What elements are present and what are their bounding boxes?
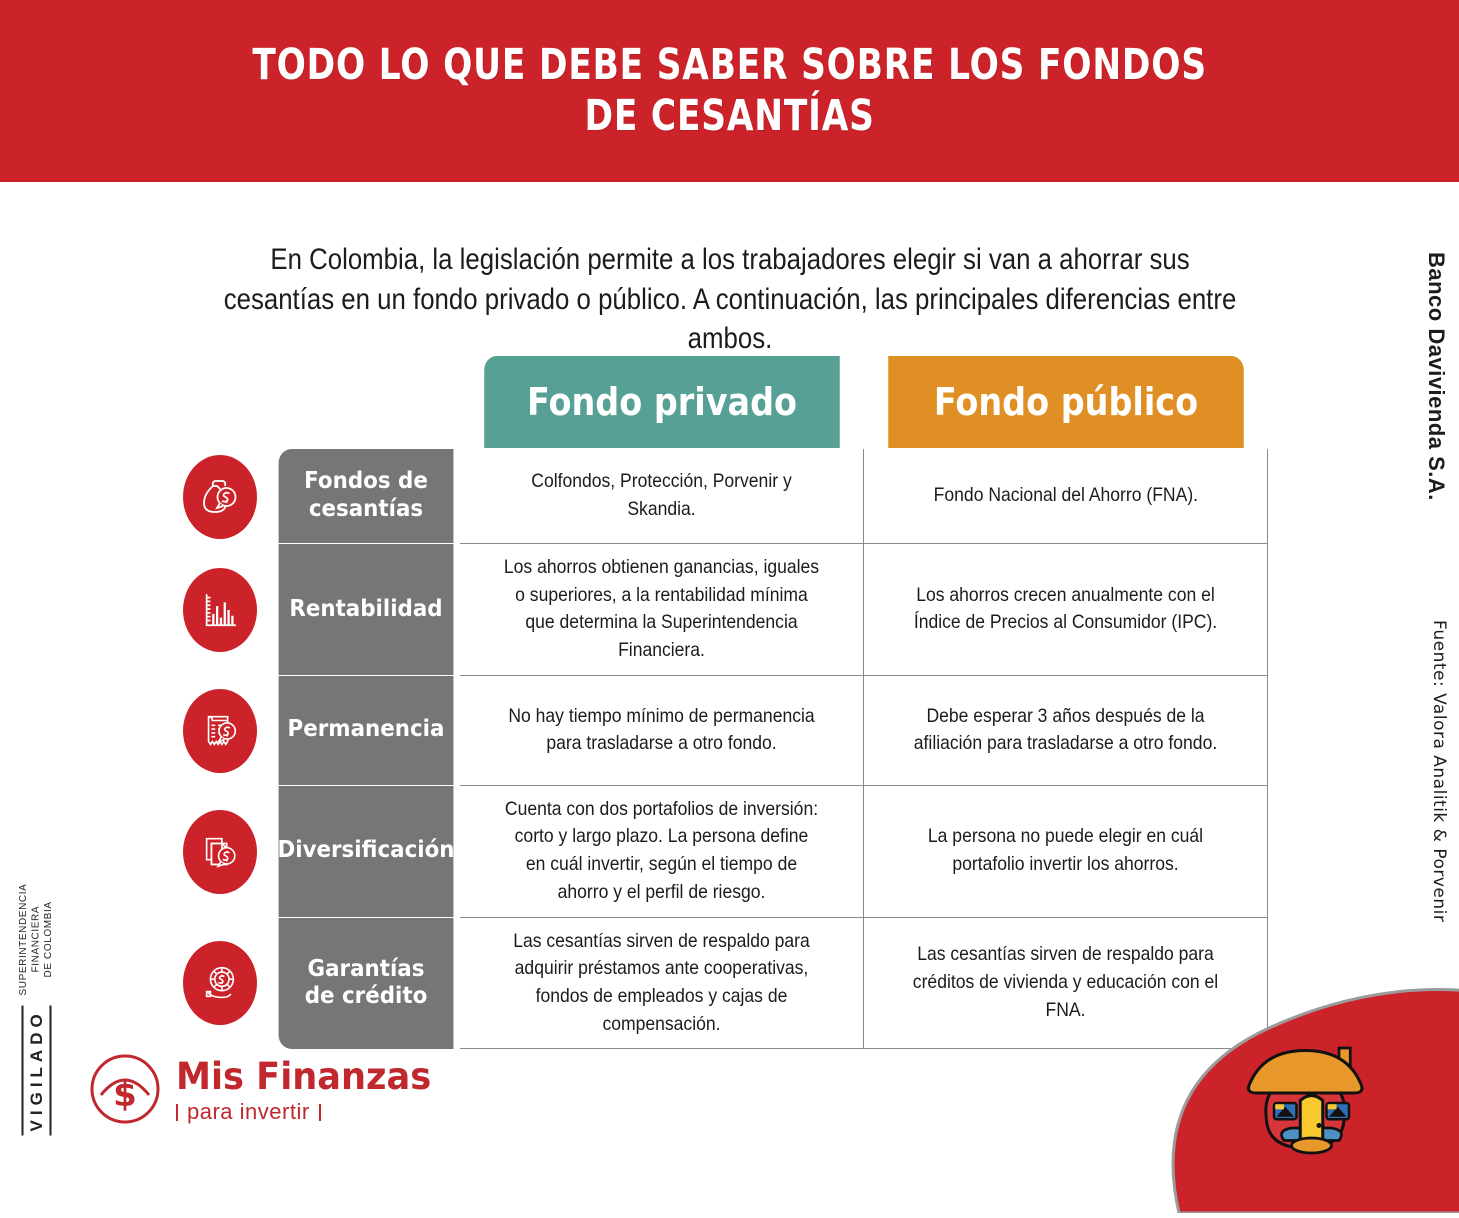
logo-coin-icon: $ [88,1052,162,1131]
header-banner: TODO LO QUE DEBE SABER SOBRE LOS FONDOS … [0,0,1459,182]
logo-divider-left [176,1104,178,1121]
table-header-row: Fondo privado Fondo público [460,356,1268,448]
table-row: Diversificación Cuenta con dos portafoli… [168,786,1268,918]
row-value-private: No hay tiempo mínimo de permanencia para… [460,676,864,786]
vigilado-entity: SUPERINTENDENCIA FINANCIERA DE COLOMBIA [18,884,56,995]
row-value-private: Colfondos, Protección, Porvenir y Skandi… [460,449,864,544]
intro-paragraph: En Colombia, la legislación permite a lo… [214,240,1246,359]
column-header-public: Fondo público [888,356,1244,448]
row-value-public: Fondo Nacional del Ahorro (FNA). [864,449,1268,544]
row-label: Garantías de crédito [279,918,454,1050]
logo-subtitle-wrap: para invertir [176,1099,445,1125]
table-row: Permanencia No hay tiempo mínimo de perm… [168,676,1268,786]
documents-dollar-icon [183,810,257,894]
bar-chart-icon [183,568,257,652]
row-icon-cell [168,544,272,676]
table-row: Rentabilidad Los ahorros obtienen gananc… [168,544,1268,676]
row-label: Rentabilidad [279,544,454,676]
row-label: Permanencia [279,676,454,786]
logo-divider-right [319,1104,321,1121]
row-icon-cell [168,918,272,1050]
row-value-private: Los ahorros obtienen ganancias, iguales … [460,544,864,676]
money-bag-dollar-icon [183,455,257,539]
row-value-private: Cuenta con dos portafolios de inversión:… [460,786,864,918]
table-body: Fondos de cesantías Colfondos, Protecció… [168,449,1268,1049]
row-label: Diversificación [279,786,454,918]
column-header-public-label: Fondo público [934,380,1198,424]
row-value-private: Las cesantías sirven de respaldo para ad… [460,918,864,1050]
row-icon-cell [168,449,272,544]
bank-name-vertical: Banco Davivienda S.A. [1423,252,1449,501]
table-row: Garantías de crédito Las cesantías sirve… [168,918,1268,1050]
row-icon-cell [168,786,272,918]
vigilado-label: VIGILADO [22,1005,52,1135]
logo-subtitle: para invertir [187,1099,310,1125]
mis-finanzas-logo: $ Mis Finanzas para invertir [88,1052,445,1131]
table-row: Fondos de cesantías Colfondos, Protecció… [168,449,1268,544]
row-label: Fondos de cesantías [279,449,454,544]
row-icon-cell [168,676,272,786]
row-value-public: La persona no puede elegir en cuál porta… [864,786,1268,918]
hand-coin-globe-icon [183,941,257,1025]
mascot-blob [1149,913,1459,1213]
row-value-public: Los ahorros crecen anualmente con el Índ… [864,544,1268,676]
column-header-private-label: Fondo privado [527,380,797,424]
vigilado-block: VIGILADO SUPERINTENDENCIA FINANCIERA DE … [18,885,76,1135]
page-title: TODO LO QUE DEBE SABER SOBRE LOS FONDOS … [252,40,1207,141]
row-value-public: Debe esperar 3 años después de la afilia… [864,676,1268,786]
source-credit-vertical: Fuente: Valora Analitik & Porvenir [1429,620,1449,922]
svg-text:$: $ [113,1075,137,1115]
logo-title: Mis Finanzas [176,1058,431,1095]
column-header-private: Fondo privado [484,356,840,448]
receipt-dollar-icon [183,689,257,773]
